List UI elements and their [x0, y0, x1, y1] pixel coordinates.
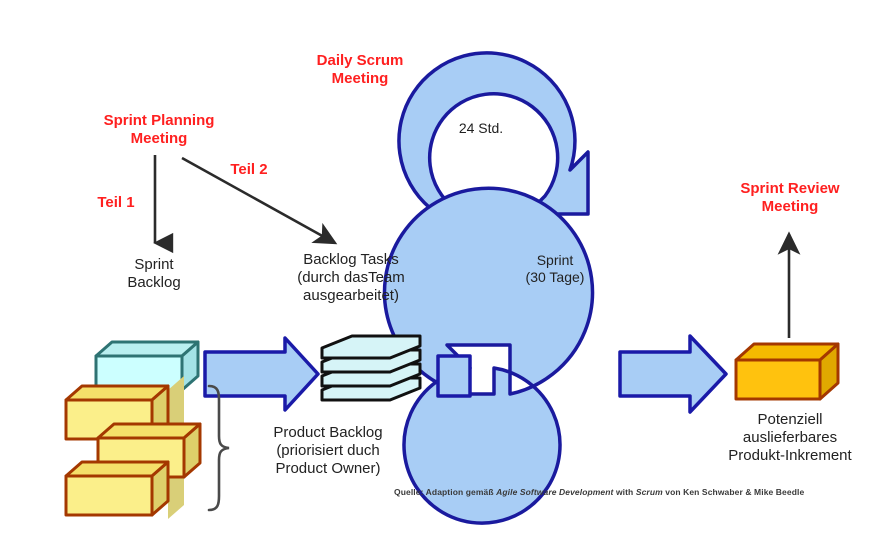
- source-prefix: Quelle: Adaption gemäß: [394, 487, 496, 497]
- arrow-backlog-to-tasks-icon: [205, 338, 318, 410]
- teil-1-label: Teil 1: [88, 194, 144, 212]
- sprint-review-meeting-label: Sprint Review Meeting: [714, 180, 866, 216]
- product-backlog-boxes-icon: [66, 376, 200, 519]
- source-book-title: Agile Software Development: [496, 487, 613, 497]
- daily-scrum-meeting-label: Daily Scrum Meeting: [284, 52, 436, 88]
- backlog-tasks-paper-stack-icon: [322, 336, 420, 400]
- product-backlog-brace-icon: [209, 386, 229, 510]
- source-book-title-2: Scrum: [636, 487, 663, 497]
- source-middle: with: [613, 487, 635, 497]
- sprint-backlog-label: Sprint Backlog: [94, 256, 214, 292]
- backlog-tasks-label: Backlog Tasks (durch dasTeam ausgearbeit…: [266, 251, 436, 305]
- daily-cycle-duration-label: 24 Std.: [426, 120, 536, 137]
- sprint-planning-meeting-label: Sprint Planning Meeting: [84, 112, 234, 148]
- product-increment-box-icon: [736, 344, 838, 399]
- arrow-tasks-to-sprint-icon: [438, 356, 470, 396]
- teil-2-label: Teil 2: [221, 161, 277, 179]
- product-increment-label: Potenziell auslieferbares Produkt-Inkrem…: [700, 411, 880, 465]
- source-suffix: von Ken Schwaber & Mike Beedle: [663, 487, 805, 497]
- sprint-cycle-duration-label: Sprint (30 Tage): [500, 252, 610, 286]
- product-backlog-label: Product Backlog (priorisiert duch Produc…: [238, 424, 418, 478]
- source-citation: Quelle: Adaption gemäß Agile Software De…: [394, 487, 874, 497]
- arrow-sprint-to-increment-icon: [620, 336, 726, 412]
- scrum-process-diagram: Sprint Planning Meeting Daily Scrum Meet…: [0, 0, 885, 543]
